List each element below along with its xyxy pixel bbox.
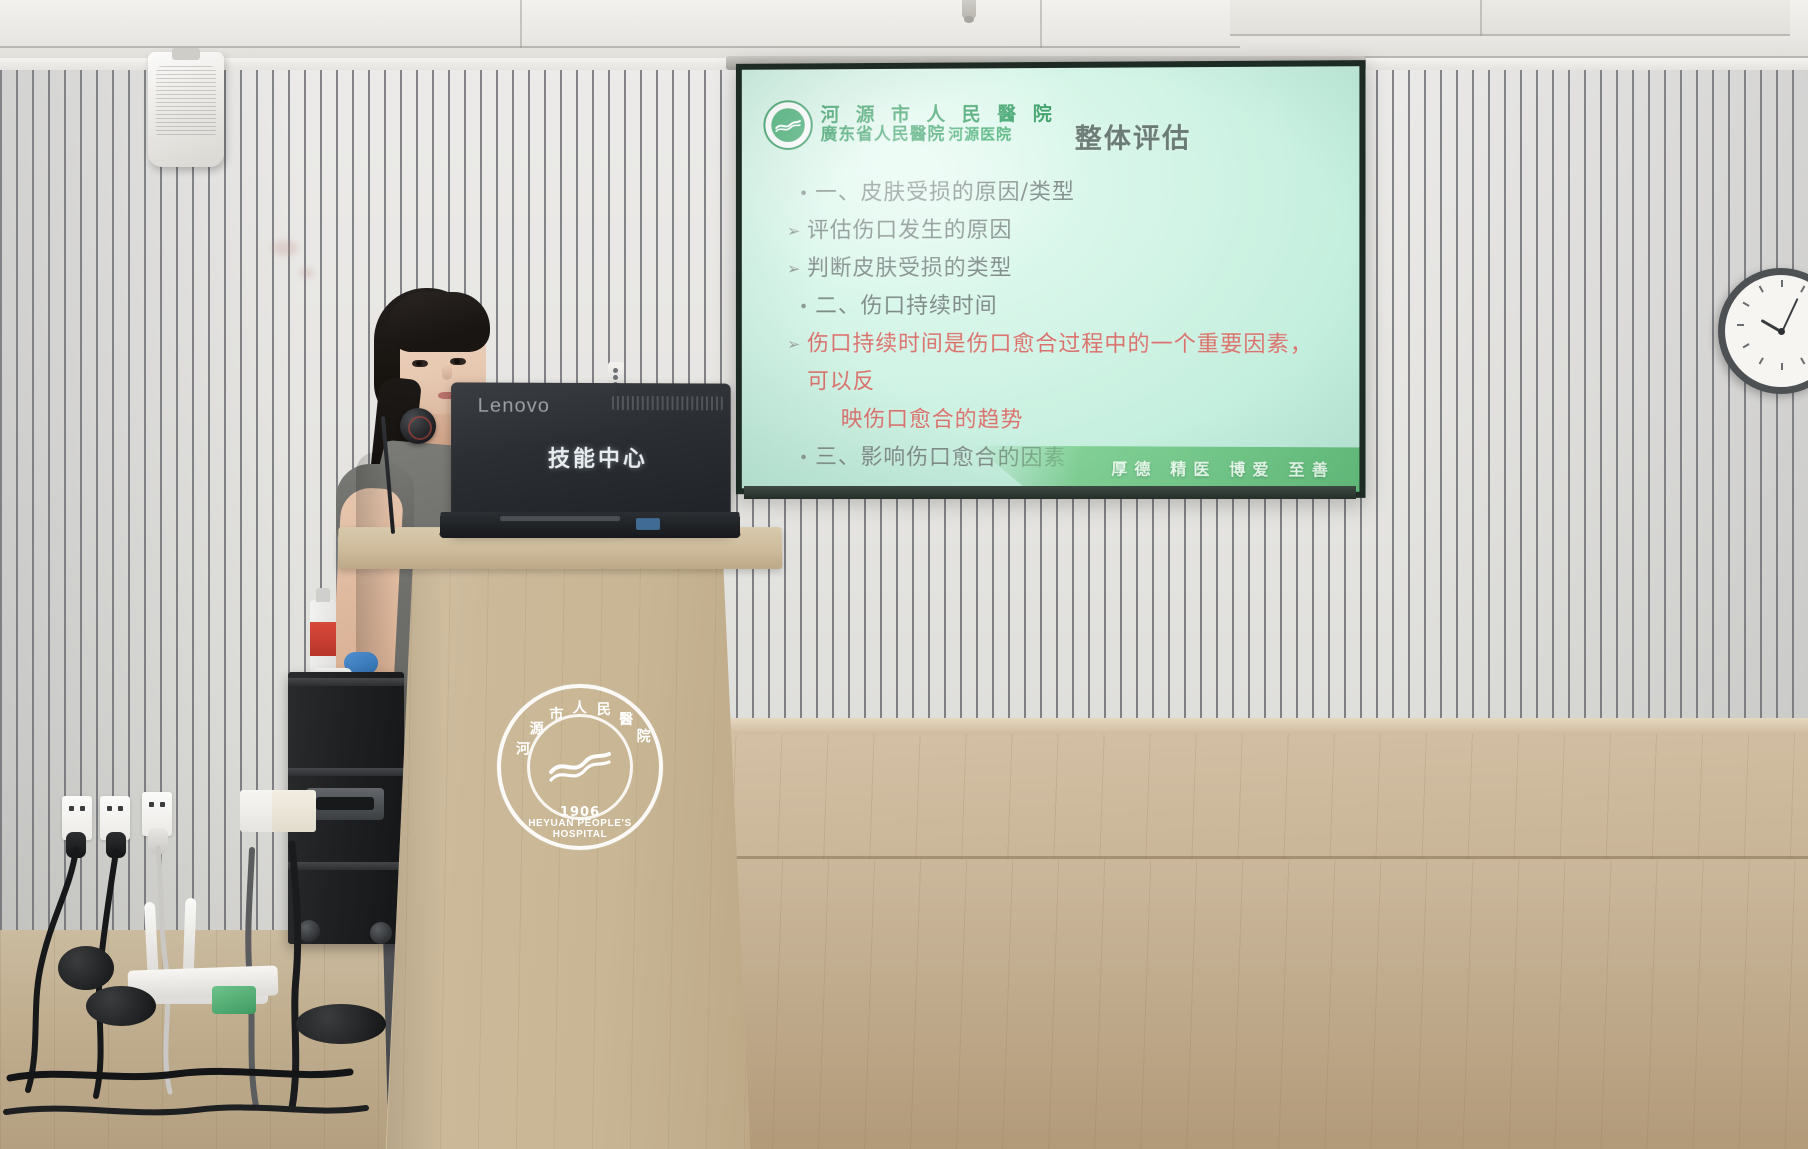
laptop-base-highlight xyxy=(500,516,620,521)
hospital-name-main: 河 源 市 人 民 醫 院 xyxy=(821,105,1057,126)
presenter-nose xyxy=(442,364,452,380)
footer-motto: 厚德 精医 博爱 至善 xyxy=(1111,455,1335,480)
case-trim-band xyxy=(288,678,404,686)
bullet-marker-arrow-icon: ➢ xyxy=(787,250,801,288)
wave-glyph xyxy=(775,117,801,133)
cable-coil xyxy=(86,986,156,1026)
slide-bullet-highlight: ➢ 伤口持续时间是伤口愈合过程中的一个重要因素，可以反 映伤口愈合的趋势 xyxy=(787,326,1333,442)
hospital-name-sub-a: 廣东省人民醫院 xyxy=(821,126,946,144)
presenter-hair-front xyxy=(388,292,490,352)
bottle-label xyxy=(310,622,336,656)
gooseneck-microphone xyxy=(400,408,436,444)
bullet-text: 评估伤口发生的原因 xyxy=(807,212,1012,250)
case-handle xyxy=(306,788,384,820)
hospital-name-block: 河 源 市 人 民 醫 院 廣东省人民醫院 河源医院 xyxy=(821,105,1057,145)
outlet-slot-icon xyxy=(160,802,165,807)
stage-top-edge xyxy=(690,718,1808,734)
laptop-brand-logo: Lenovo xyxy=(478,396,550,418)
sprinkler-head-icon xyxy=(962,0,976,20)
bullet-text-continued: 映伤口愈合的趋势 xyxy=(807,401,1333,441)
wall-mark xyxy=(272,240,298,256)
stage-front-edge xyxy=(690,856,1808,859)
slide-bullet: ➢ 评估伤口发生的原因 xyxy=(787,211,1333,250)
case-trim-band xyxy=(288,768,404,776)
sensor-dot-icon xyxy=(613,375,618,380)
outlet-slot-icon xyxy=(80,806,85,811)
slide-bullet: • 二、伤口持续时间 xyxy=(787,288,1333,326)
wall-data-panel[interactable] xyxy=(272,790,316,832)
outlet-slot-icon xyxy=(149,802,154,807)
speaker-bracket xyxy=(172,48,200,60)
speaker-grill xyxy=(156,66,216,138)
hospital-wave-logo-icon xyxy=(763,100,812,150)
bottle-cap xyxy=(316,588,330,602)
outlet-slot-icon xyxy=(107,806,112,811)
sensor-dot-icon xyxy=(613,368,618,373)
clock-center-pin xyxy=(1778,328,1785,335)
slide-bullet: • 一、皮肤受损的原因/类型 xyxy=(787,173,1333,212)
stage-front-grain xyxy=(690,860,1808,1149)
laptop-vent-grill xyxy=(612,396,723,410)
ceiling-tile-line xyxy=(520,0,522,48)
green-equipment-item xyxy=(212,986,256,1014)
outlet-slot-icon xyxy=(69,806,74,811)
ceiling-vent-panel xyxy=(1230,0,1790,36)
projection-screen: 河 源 市 人 民 醫 院 廣东省人民醫院 河源医院 整体评估 • 一、皮肤受损… xyxy=(736,60,1366,498)
slide-bullet: ➢ 判断皮肤受损的类型 xyxy=(787,250,1333,288)
slide-title: 整体评估 xyxy=(1075,116,1191,160)
bullet-marker-arrow-icon: ➢ xyxy=(787,212,801,250)
stage-front-face xyxy=(690,860,1808,1149)
bullet-marker-dot-icon: • xyxy=(799,288,809,326)
clock-face xyxy=(1725,275,1808,387)
microphone-ring xyxy=(408,416,432,440)
ceiling-tile-line xyxy=(1480,0,1482,36)
slide-header: 河 源 市 人 民 醫 院 廣东省人民醫院 河源医院 整体评估 xyxy=(763,86,1341,160)
hospital-emblem: 河 源 市 人 民 醫 院 1906 HEYUAN PEOPLE'S HOSPI… xyxy=(497,684,663,850)
ceiling-tile-line xyxy=(1040,0,1042,48)
wall-mark xyxy=(300,268,314,278)
slide-footer: 厚德 精医 博爱 至善 xyxy=(742,445,1360,492)
bullet-text: 伤口持续时间是伤口愈合过程中的一个重要因素，可以反 xyxy=(807,332,1313,395)
bullet-text: 一、皮肤受损的原因/类型 xyxy=(815,174,1075,213)
cable-coil xyxy=(296,1004,386,1044)
laptop-screen-text: 技能中心 xyxy=(548,441,648,473)
outlet-slot-icon xyxy=(118,806,123,811)
bullet-marker-dot-icon: • xyxy=(799,175,809,213)
ceiling xyxy=(0,0,1808,64)
presentation-slide: 河 源 市 人 民 醫 院 廣东省人民醫院 河源医院 整体评估 • 一、皮肤受损… xyxy=(742,66,1360,492)
lecture-hall-photo: 河 源 市 人 民 醫 院 廣东省人民醫院 河源医院 整体评估 • 一、皮肤受损… xyxy=(0,0,1808,1149)
wall-speaker xyxy=(148,52,224,167)
cable-coil xyxy=(58,946,114,990)
hospital-wave-logo-icon xyxy=(547,748,613,786)
laptop-lid: Lenovo 技能中心 xyxy=(451,382,731,533)
usb-port-icon xyxy=(636,518,660,530)
hospital-name-sub-b: 河源医院 xyxy=(948,127,1012,143)
laptop-base[interactable] xyxy=(440,512,741,538)
bullet-marker-arrow-icon: ➢ xyxy=(787,326,801,364)
bullet-text: 判断皮肤受损的类型 xyxy=(807,250,1012,288)
bullet-text: 二、伤口持续时间 xyxy=(815,288,997,326)
projection-screen-weight-bar xyxy=(744,486,1356,499)
slide-bullet-list: • 一、皮肤受损的原因/类型 ➢ 评估伤口发生的原因 ➢ 判断皮肤受损的类型 •… xyxy=(787,173,1333,479)
